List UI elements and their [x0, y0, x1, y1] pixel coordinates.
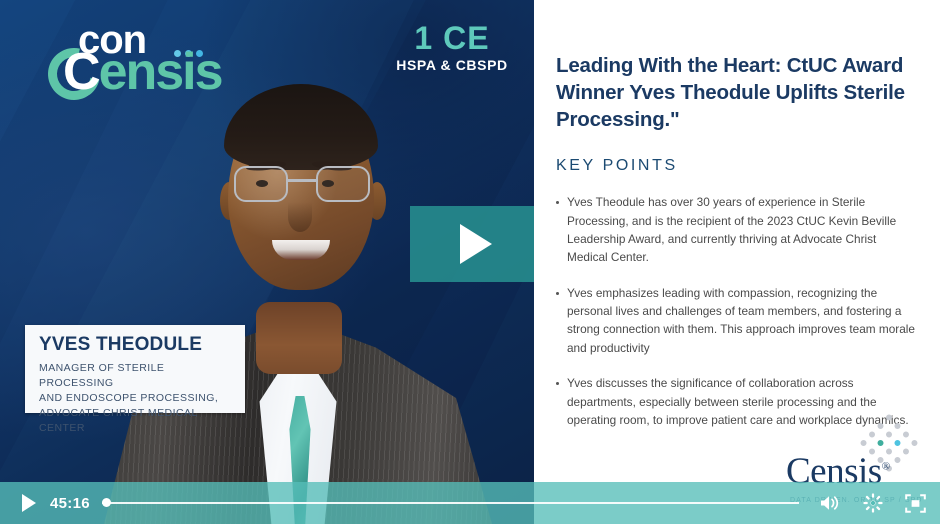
ce-accreditors: HSPA & CBSPD	[372, 57, 532, 73]
eyeglass-bridge	[288, 179, 316, 182]
portrait-eye-left	[256, 180, 268, 187]
portrait-nose	[288, 202, 312, 232]
speaker-role-line-1: MANAGER OF STERILE PROCESSING	[39, 361, 231, 391]
control-bar-right-group	[819, 493, 926, 513]
video-player[interactable]: con Censis 1 CE HSPA & CBSPD	[0, 0, 940, 524]
portrait-smile	[272, 240, 330, 260]
video-slide: con Censis 1 CE HSPA & CBSPD	[0, 0, 940, 524]
portrait-eyebrow-left	[246, 160, 287, 172]
ce-credit-badge: 1 CE HSPA & CBSPD	[372, 22, 532, 73]
speaker-role-line-3: ADVOCATE CHRIST MEDICAL CENTER	[39, 406, 231, 436]
player-control-bar: 45:16	[0, 482, 940, 524]
concensis-logo: con Censis	[30, 14, 230, 104]
list-item-text: Yves Theodule has over 30 years of exper…	[567, 193, 918, 267]
speaker-name: YVES THEODULE	[39, 335, 231, 356]
play-icon	[460, 224, 492, 264]
portrait-face	[228, 92, 374, 290]
play-icon	[22, 494, 36, 512]
portrait-hair	[224, 84, 378, 170]
fullscreen-icon	[905, 494, 926, 513]
bullet-dot-icon	[556, 201, 559, 204]
progress-bar[interactable]	[102, 494, 799, 512]
bullet-dot-icon	[556, 382, 559, 385]
list-item-text: Yves emphasizes leading with compassion,…	[567, 284, 918, 358]
eyeglass-lens-right	[316, 166, 370, 202]
list-item: Yves emphasizes leading with compassion,…	[556, 284, 918, 358]
progress-track	[102, 502, 799, 504]
center-play-button[interactable]	[410, 206, 534, 282]
list-item: Yves Theodule has over 30 years of exper…	[556, 193, 918, 267]
gear-icon	[863, 493, 883, 513]
key-points-list: Yves Theodule has over 30 years of exper…	[556, 193, 918, 429]
progress-handle[interactable]	[102, 498, 111, 507]
portrait-eyebrow-right	[312, 160, 353, 172]
current-time: 45:16	[50, 495, 90, 512]
speaker-name-card: YVES THEODULE MANAGER OF STERILE PROCESS…	[25, 325, 245, 413]
volume-icon	[819, 494, 841, 512]
portrait-ear-left	[220, 182, 238, 220]
eyeglass-lens-left	[234, 166, 288, 202]
ce-credit-count: 1 CE	[372, 22, 532, 56]
key-points-heading: KEY POINTS	[556, 157, 918, 175]
logo-text-censis: Censis	[63, 46, 222, 98]
bullet-dot-icon	[556, 292, 559, 295]
speaker-role-line-2: AND ENDOSCOPE PROCESSING,	[39, 391, 231, 406]
play-button[interactable]	[14, 488, 44, 518]
fullscreen-button[interactable]	[905, 494, 926, 513]
settings-button[interactable]	[863, 493, 883, 513]
censis-trademark: ®	[882, 461, 890, 473]
logo-text-censis-rest: ensis	[99, 43, 222, 101]
portrait-eyeglasses	[234, 166, 370, 206]
portrait-neck	[256, 302, 342, 374]
volume-button[interactable]	[819, 494, 841, 512]
portrait-eye-right	[322, 180, 334, 187]
logo-text-censis-c: C	[63, 43, 99, 101]
slide-title: Leading With the Heart: CtUC Award Winne…	[556, 52, 918, 133]
portrait-ear-right	[368, 182, 386, 220]
slide-right-pane: Leading With the Heart: CtUC Award Winne…	[534, 0, 940, 524]
speaker-portrait	[96, 54, 496, 524]
